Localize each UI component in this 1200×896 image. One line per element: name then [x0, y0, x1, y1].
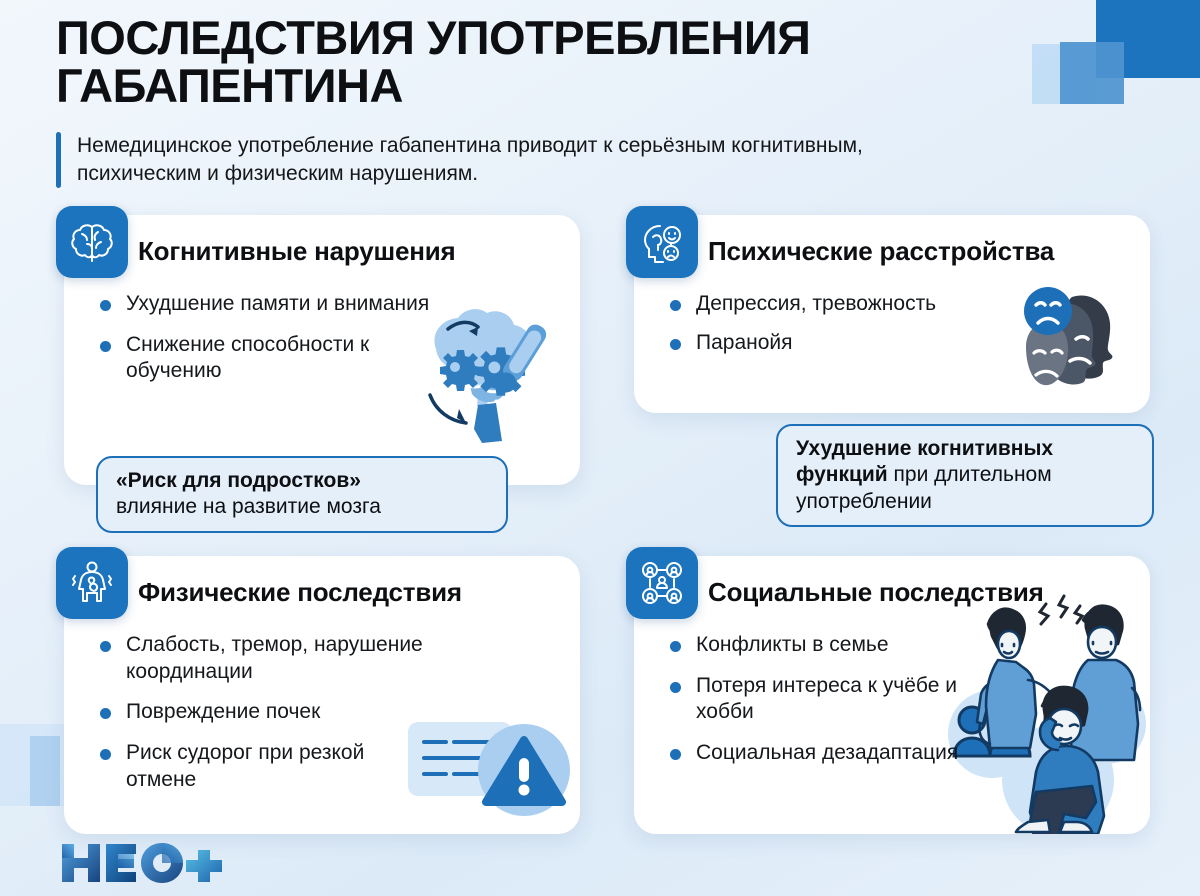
- callout-combined-text: Ухудшение когнитивных функций при длител…: [796, 436, 1134, 515]
- card-social-consequences: Социальные последствия Конфликты в семье…: [634, 556, 1150, 834]
- bullet-list: Депрессия, тревожность Паранойя: [634, 287, 1150, 356]
- list-item: Слабость, тремор, нарушение координации: [100, 632, 430, 685]
- list-item: Повреждение почек: [100, 699, 430, 726]
- callout-long-term-use: Ухудшение когнитивных функций при длител…: [776, 424, 1154, 527]
- bullet-list: Слабость, тремор, нарушение координации …: [64, 628, 580, 793]
- card-header: Социальные последствия: [634, 556, 1150, 628]
- callout-strong-text: «Риск для подростков»: [116, 468, 488, 494]
- decor-square-top-right-dark: [1096, 0, 1200, 78]
- subtitle-text: Немедицинское употребление габапентина п…: [77, 132, 977, 188]
- list-item: Депрессия, тревожность: [670, 291, 1040, 318]
- page-title: ПОСЛЕДСТВИЯ УПОТРЕБЛЕНИЯ ГАБАПЕНТИНА: [56, 14, 836, 110]
- card-title: Социальные последствия: [708, 578, 1044, 607]
- card-header: Психические расстройства: [634, 215, 1150, 287]
- card-header: Когнитивные нарушения: [64, 215, 580, 287]
- bullet-list: Конфликты в семье Потеря интереса к учёб…: [634, 628, 1150, 767]
- callout-teen-risk: «Риск для подростков» влияние на развити…: [96, 456, 508, 533]
- list-item: Ухудшение памяти и внимания: [100, 291, 430, 318]
- brand-logo: [60, 840, 230, 886]
- card-mental-disorders: Психические расстройства Депрессия, трев…: [634, 215, 1150, 413]
- list-item: Потеря интереса к учёбе и хобби: [670, 673, 970, 726]
- list-item: Риск судорог при резкой отмене: [100, 740, 430, 793]
- callout-strong-span: «Риск для подростков»: [116, 469, 361, 492]
- card-title: Психические расстройства: [708, 237, 1054, 266]
- list-item: Конфликты в семье: [670, 632, 970, 659]
- callout-rest-text: влияние на развитие мозга: [116, 494, 488, 520]
- header: ПОСЛЕДСТВИЯ УПОТРЕБЛЕНИЯ ГАБАПЕНТИНА Нем…: [56, 14, 1056, 188]
- card-title: Когнитивные нарушения: [138, 237, 456, 266]
- card-physical-consequences: Физические последствия Слабость, тремор,…: [64, 556, 580, 834]
- card-header: Физические последствия: [64, 556, 580, 628]
- subtitle: Немедицинское употребление габапентина п…: [56, 132, 1056, 188]
- head-emotions-icon: [626, 206, 698, 278]
- list-item: Снижение способности к обучению: [100, 332, 430, 385]
- list-item: Социальная дезадаптация: [670, 740, 970, 767]
- subtitle-accent-bar: [56, 132, 61, 188]
- neo-plus-logo-icon: [60, 840, 230, 886]
- card-title: Физические последствия: [138, 578, 462, 607]
- list-item: Паранойя: [670, 330, 1040, 357]
- card-cognitive-impairment: Когнитивные нарушения Ухудшение памяти и…: [64, 215, 580, 485]
- brain-icon: [56, 206, 128, 278]
- bullet-list: Ухудшение памяти и внимания Снижение спо…: [64, 287, 580, 385]
- body-organs-icon: [56, 547, 128, 619]
- decor-square-bottom-left-mid: [30, 736, 60, 806]
- decor-square-top-right-mid: [1060, 42, 1124, 104]
- social-network-icon: [626, 547, 698, 619]
